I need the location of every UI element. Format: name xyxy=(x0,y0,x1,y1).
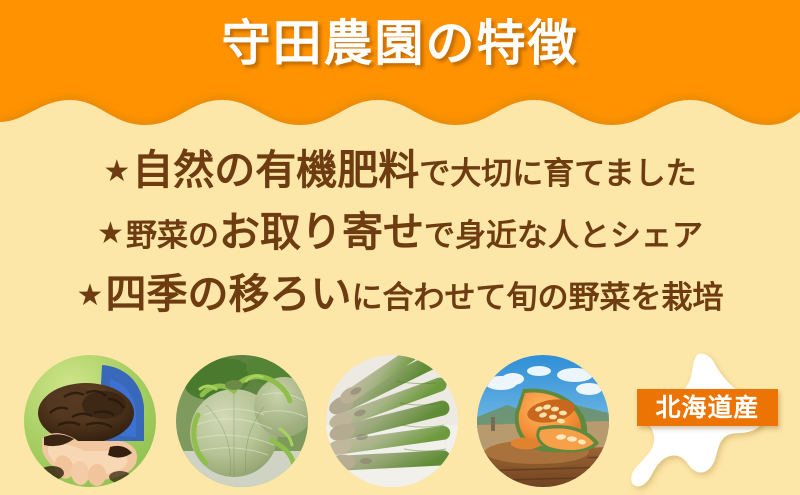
photo-asparagus-spears xyxy=(326,355,458,487)
feature-line-1: ★自然の有機肥料で大切に育てました xyxy=(0,150,800,196)
star-icon: ★ xyxy=(103,154,130,189)
feature-2-emphasis: お取り寄せ xyxy=(219,208,424,256)
photo-compost-soil-in-hands xyxy=(24,355,156,487)
wave-divider xyxy=(0,92,800,150)
feature-3-emphasis: 四季の移ろい xyxy=(105,270,351,318)
star-icon: ★ xyxy=(77,278,104,313)
feature-line-3: ★四季の移ろいに合わせて旬の野菜を栽培 xyxy=(0,274,800,320)
feature-2-lead: 野菜の xyxy=(126,218,219,254)
photo-cut-orange-melon xyxy=(477,355,609,487)
feature-line-2: ★野菜のお取り寄せで身近な人とシェア xyxy=(0,212,800,258)
photo-green-melon-on-vine xyxy=(176,355,308,487)
hokkaido-badge: 北海道産 xyxy=(637,389,778,426)
feature-1-rest: で大切に育てました xyxy=(419,156,696,192)
promo-banner: 守田農園の特徴 ★自然の有機肥料で大切に育てました ★野菜のお取り寄せで身近な人… xyxy=(0,0,800,495)
feature-list: ★自然の有機肥料で大切に育てました ★野菜のお取り寄せで身近な人とシェア ★四季… xyxy=(0,150,800,336)
hokkaido-badge-group: 北海道産 xyxy=(628,352,788,495)
feature-3-rest: に合わせて旬の野菜を栽培 xyxy=(351,280,723,316)
star-icon: ★ xyxy=(97,216,124,251)
badge-label: 北海道産 xyxy=(655,395,759,420)
feature-2-rest: で身近な人とシェア xyxy=(424,218,703,254)
page-title: 守田農園の特徴 xyxy=(0,16,800,72)
feature-1-emphasis: 自然の有機肥料 xyxy=(132,146,419,194)
